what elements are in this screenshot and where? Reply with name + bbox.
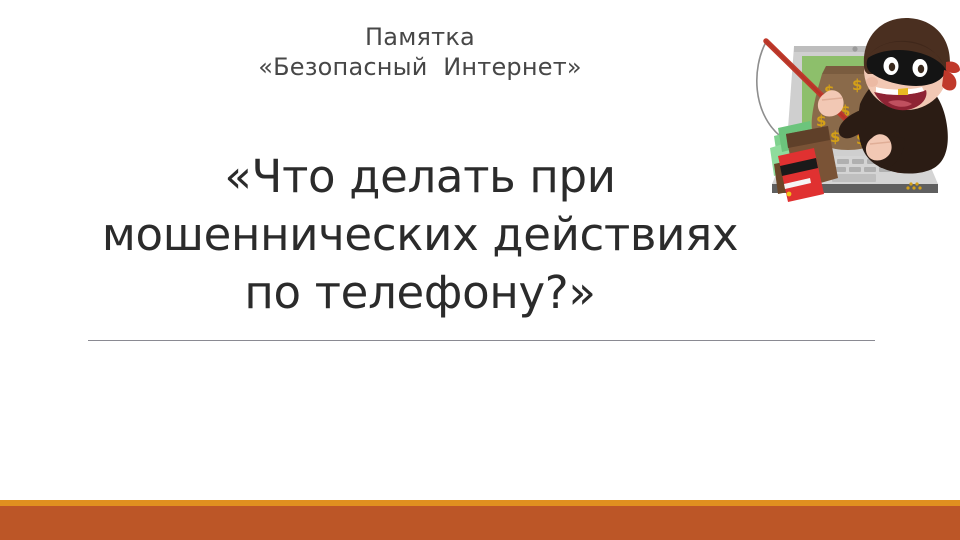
title-line-3: по телефону?»	[0, 264, 840, 322]
slide-header: Памятка «Безопасный Интернет»	[0, 22, 840, 82]
svg-text:$: $	[852, 76, 862, 94]
footer-main-bar	[0, 506, 960, 540]
thief-laptop-illustration: $ $ $ $ $ $ $	[748, 8, 960, 220]
title-line-1: «Что делать при	[0, 148, 840, 206]
slide-title: «Что делать при мошеннических действиях …	[0, 148, 840, 322]
title-divider-line	[88, 340, 875, 341]
header-line-2: «Безопасный Интернет»	[0, 52, 840, 82]
title-line-2: мошеннических действиях	[0, 206, 840, 264]
presentation-slide: Памятка «Безопасный Интернет» «Что делат…	[0, 0, 960, 540]
header-line-1: Памятка	[0, 22, 840, 52]
